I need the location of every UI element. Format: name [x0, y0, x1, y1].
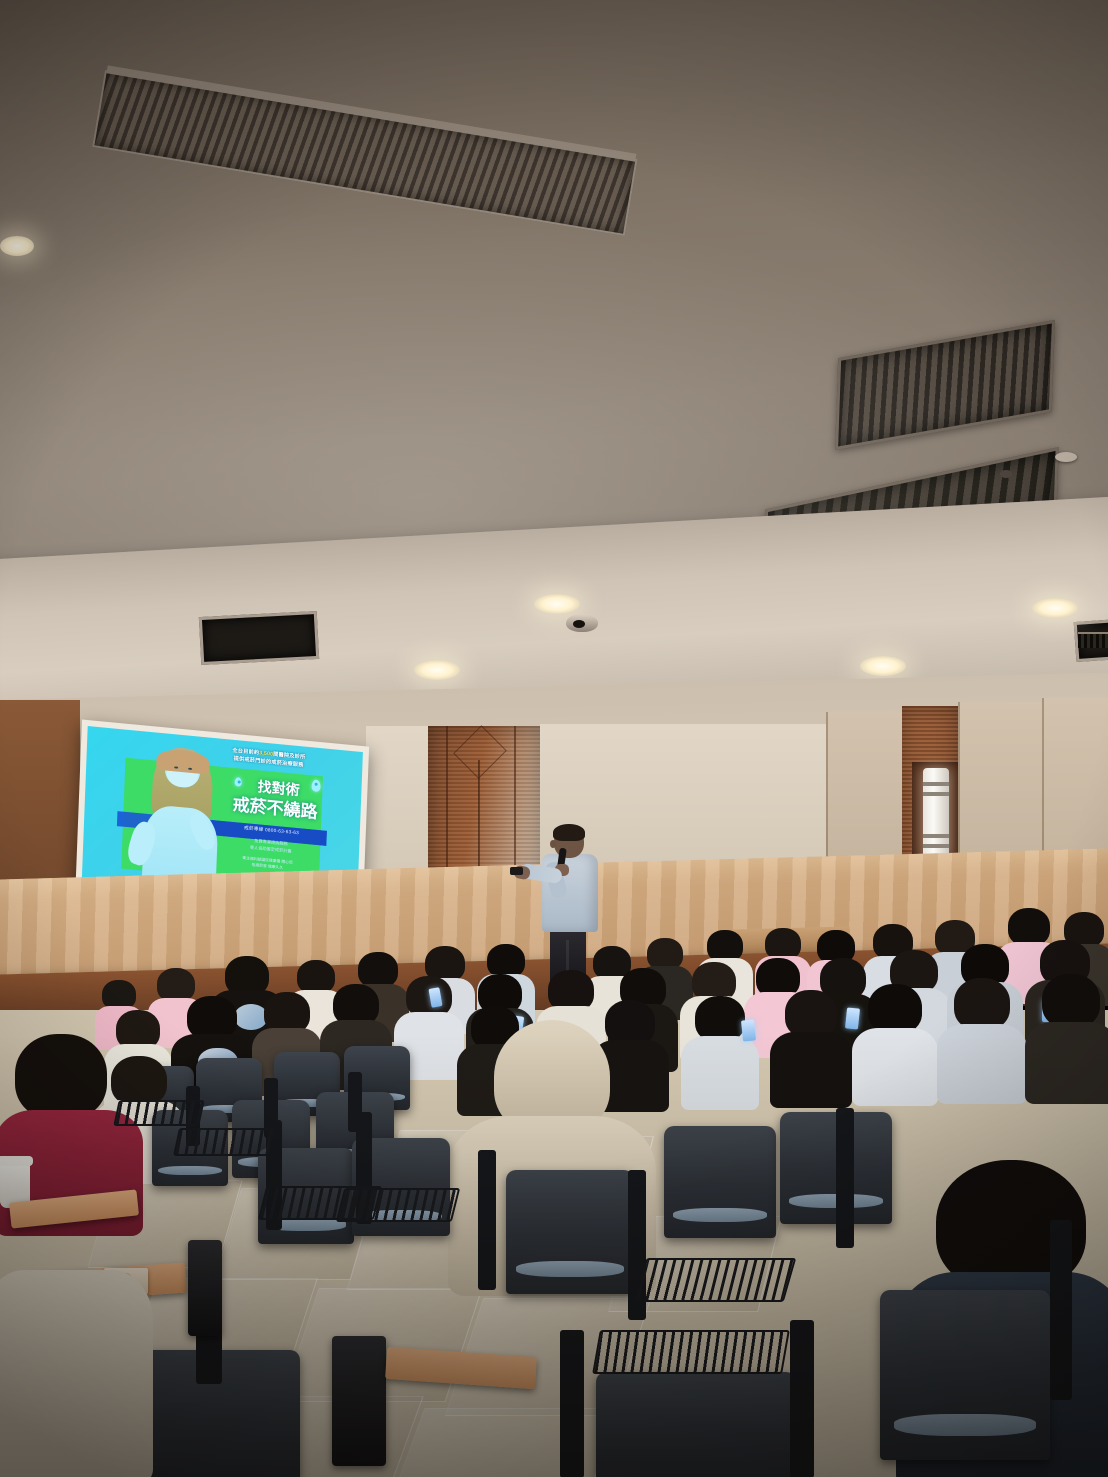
audience-person-foreground-left: [0, 1250, 170, 1477]
audience-person: [858, 984, 932, 1098]
downlight-icon: [414, 660, 460, 680]
auditorium-scene: 全台目前約3,500間醫院及診所 提供戒菸門診的戒菸治療服務 找對術 戒菸不繞路…: [0, 0, 1108, 1477]
downlight-icon: [860, 656, 906, 676]
under-seat-basket: [634, 1258, 797, 1302]
audience-person: [1032, 974, 1108, 1096]
under-seat-basket: [173, 1128, 275, 1156]
auditorium-seat[interactable]: [506, 1170, 634, 1294]
under-seat-basket: [592, 1330, 790, 1374]
seat-frame: [478, 1150, 496, 1290]
under-seat-basket: [336, 1188, 460, 1222]
dark-device: [332, 1336, 386, 1466]
presentation-clicker-icon: [510, 867, 523, 875]
audience-person: [944, 978, 1020, 1096]
audience-person: [776, 990, 846, 1100]
downlight-icon: [0, 236, 34, 256]
downlight-icon: [534, 594, 580, 614]
seat-frame: [1050, 1220, 1072, 1400]
smoke-detector-icon: [1055, 452, 1077, 462]
recessed-ceiling-panel-left: [199, 611, 319, 665]
wall-sconce-light: [923, 768, 949, 860]
ceiling-fixture-hole: [1000, 470, 1012, 478]
seat-frame: [836, 1108, 854, 1248]
seat-frame: [560, 1330, 584, 1477]
under-seat-basket: [113, 1100, 205, 1126]
ceiling-ac-cassette-upper: [835, 320, 1055, 450]
auditorium-seat[interactable]: [596, 1372, 796, 1477]
auditorium-seat[interactable]: [880, 1290, 1050, 1460]
seat-frame: [790, 1320, 814, 1477]
ceiling-speaker-grille: [1078, 632, 1108, 648]
smartphone-screen: [845, 1007, 860, 1029]
dome-camera-icon: [566, 614, 598, 632]
smartphone-screen: [741, 1019, 756, 1041]
audience-person: [686, 996, 754, 1104]
dark-device: [188, 1240, 222, 1336]
auditorium-seat[interactable]: [664, 1126, 776, 1238]
linear-air-vent-icon: [92, 70, 637, 236]
downlight-icon: [1032, 598, 1078, 618]
